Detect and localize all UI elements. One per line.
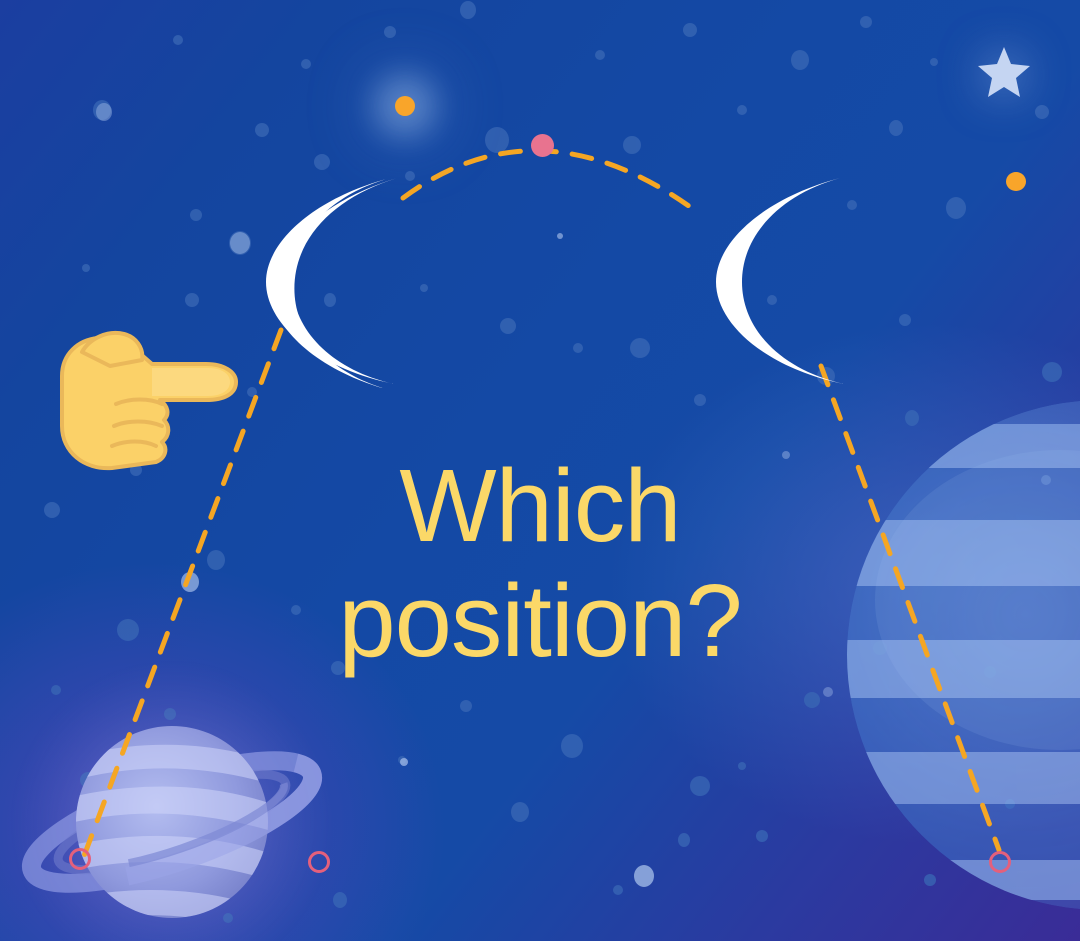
upper-orbital-arc [403, 151, 700, 214]
apex-position-marker[interactable] [531, 134, 554, 157]
right-position-marker[interactable] [989, 851, 1011, 873]
question-line-2: position? [0, 563, 1080, 678]
orange-star-glow-icon [395, 96, 415, 116]
five-point-star-icon [976, 45, 1032, 99]
question-text: Which position? [0, 448, 1080, 679]
pointing-hand-emoji [52, 318, 248, 482]
saturn-position-marker[interactable] [69, 848, 91, 870]
orange-star-small-icon [1006, 172, 1026, 191]
crescent-moon-left [252, 172, 408, 388]
saturn-planet [10, 660, 334, 941]
middle-position-marker[interactable] [308, 851, 330, 873]
space-illustration-scene: Which position? [0, 0, 1080, 941]
crescent-moon-right [702, 172, 858, 388]
